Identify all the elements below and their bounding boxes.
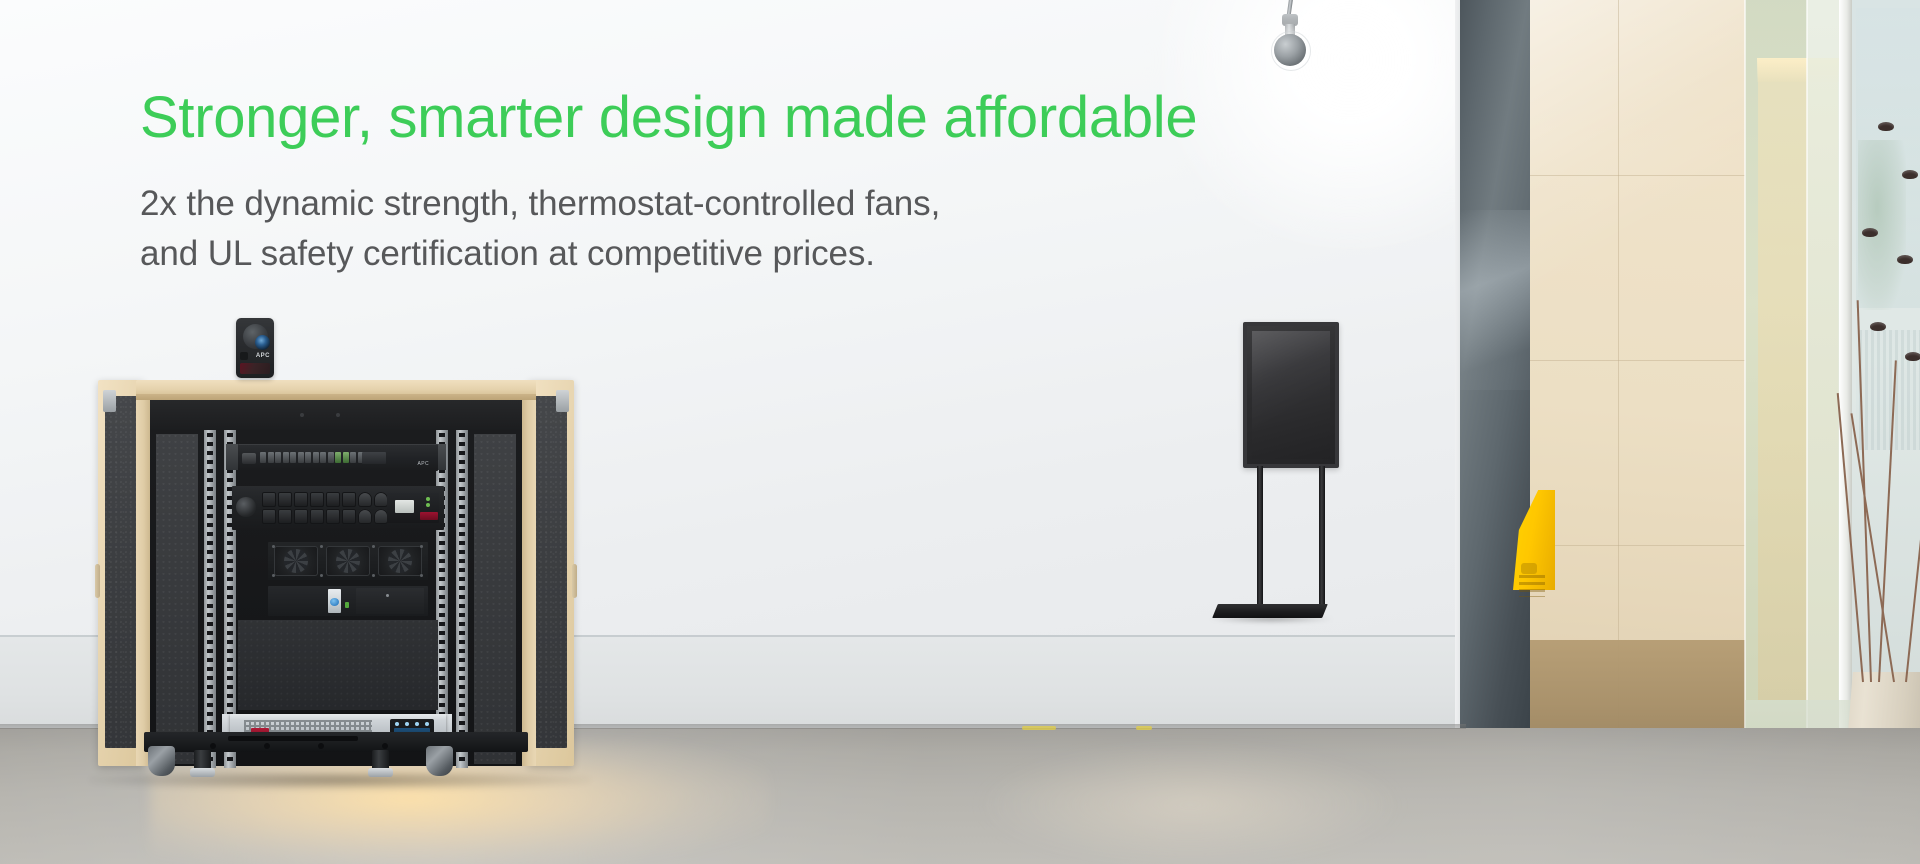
camera-lens	[255, 335, 270, 350]
rack-base-hole	[318, 743, 324, 749]
ups-button[interactable]	[405, 722, 409, 726]
glass-edge	[1806, 0, 1808, 800]
switch-port	[350, 452, 356, 463]
rack-base-hole	[210, 743, 216, 749]
seed-pod	[1905, 352, 1920, 361]
rack-leveling-foot-pad	[190, 768, 215, 777]
rail-perforations	[207, 433, 213, 765]
pdu-outlet	[342, 492, 356, 507]
switch-port-active	[335, 452, 341, 463]
pdu-outlet	[342, 509, 356, 524]
door-handle[interactable]	[95, 564, 100, 598]
shelf-indicator	[386, 594, 389, 597]
rack-base-hole	[382, 743, 388, 749]
rack-wood-side-right	[522, 394, 536, 766]
window-mullion	[1839, 0, 1852, 790]
cooling-fan	[274, 546, 318, 576]
pdu-status-leds	[426, 497, 430, 507]
cooling-fan	[378, 546, 422, 576]
switch-port	[268, 452, 274, 463]
switch-port	[320, 452, 326, 463]
fan-screw	[272, 574, 275, 577]
rack-interior: APC	[150, 400, 522, 766]
fan-screw	[372, 574, 375, 577]
pdu-outlet-grid	[262, 492, 388, 524]
glass-edge	[1744, 0, 1746, 800]
pdu-breaker-knob[interactable]	[236, 497, 256, 517]
rack-base-slot	[228, 736, 358, 741]
switch-port	[283, 452, 289, 463]
rack-blanking-panel	[238, 620, 438, 710]
fan-screw	[320, 574, 323, 577]
glass-panel-2	[1807, 0, 1841, 772]
pdu-outlet	[294, 509, 308, 524]
rack-base-hole	[264, 743, 270, 749]
rack-shelf-module	[268, 586, 428, 616]
fan-screw	[372, 545, 375, 548]
sign-leg	[1257, 466, 1263, 606]
switch-rack-ear	[226, 444, 238, 470]
pdu-outlet	[326, 492, 340, 507]
tan-wall-sheen	[1530, 0, 1745, 300]
seed-pod	[1897, 255, 1913, 264]
pdu-status-led	[426, 503, 430, 507]
pdu-display	[395, 500, 414, 513]
sign-frame	[1243, 322, 1339, 468]
sign-leg	[1319, 466, 1325, 606]
rack-top-dot	[300, 413, 304, 417]
pdu-outlet	[278, 492, 292, 507]
pdu-outlet	[310, 509, 324, 524]
sign-shadow	[1209, 615, 1333, 623]
pdu-outlet-nema	[358, 509, 372, 524]
page-subtitle: 2x the dynamic strength, thermostat-cont…	[140, 179, 1340, 278]
switch-port	[328, 452, 334, 463]
switch-power-inlet	[242, 453, 256, 464]
lamp-head	[1274, 34, 1306, 66]
pdu-status-led	[426, 497, 430, 501]
switch-display	[362, 452, 386, 464]
camera-brand-label: APC	[256, 353, 270, 359]
tan-wall-seam	[1618, 0, 1619, 740]
hero-copy: Stronger, smarter design made affordable…	[140, 88, 1340, 278]
seed-pod	[1902, 170, 1918, 179]
pdu-outlet	[326, 509, 340, 524]
switch-port	[275, 452, 281, 463]
pdu-outlet	[262, 509, 276, 524]
door-clip	[556, 390, 569, 412]
tan-wall-seam	[1530, 360, 1745, 361]
switch-brand-label: APC	[418, 461, 429, 467]
pdu-outlet-nema	[374, 492, 388, 507]
sign-face	[1252, 331, 1330, 459]
caution-sign-handle	[1521, 563, 1537, 574]
ups-button[interactable]	[425, 722, 429, 726]
rack-wood-top-edge	[136, 394, 536, 400]
door-acoustic-pad	[105, 396, 137, 748]
pdu-outlet-nema	[358, 492, 372, 507]
camera-lens-ring	[243, 324, 268, 349]
ups-button[interactable]	[415, 722, 419, 726]
ups-button[interactable]	[395, 722, 399, 726]
seed-pod	[1862, 228, 1878, 237]
pdu-outlet	[294, 492, 308, 507]
interior-acoustic-pad-left	[156, 434, 198, 764]
dark-column	[1460, 0, 1530, 735]
pdu-brand-badge	[420, 512, 438, 520]
pdu-outlet	[310, 492, 324, 507]
hero-banner: Stronger, smarter design made affordable…	[0, 0, 1920, 864]
apc-network-rack: APC	[136, 380, 536, 780]
rack-pdu	[232, 486, 444, 530]
pdu-outlet	[278, 509, 292, 524]
switch-port	[298, 452, 304, 463]
fan-screw	[420, 574, 423, 577]
switch-port-active	[343, 452, 349, 463]
switch-port	[260, 452, 266, 463]
rail-perforations	[459, 433, 465, 765]
rack-caster	[426, 746, 453, 776]
switch-port	[290, 452, 296, 463]
floor-light-reflection	[980, 745, 1400, 864]
seed-pod	[1878, 122, 1894, 131]
rack-fan-tray	[268, 542, 428, 580]
rack-leveling-foot-pad	[368, 768, 393, 777]
fan-screw	[420, 545, 423, 548]
door-acoustic-pad	[535, 396, 567, 748]
door-handle[interactable]	[572, 564, 577, 598]
rack-caster	[148, 746, 175, 776]
pdu-outlet-nema	[374, 509, 388, 524]
switch-port	[313, 452, 319, 463]
shelf-status-led	[345, 602, 349, 608]
fan-screw	[320, 545, 323, 548]
apc-security-camera: APC	[236, 318, 274, 378]
interior-acoustic-pad-right	[474, 434, 516, 764]
rack-mounting-rail	[204, 430, 216, 768]
caution-sign-text	[1519, 575, 1545, 597]
rack-network-switch: APC	[238, 444, 438, 471]
camera-ir-strip	[240, 363, 270, 374]
cooling-fan	[326, 546, 370, 576]
floor-paint-mark	[1136, 726, 1152, 730]
rack-base-plinth	[144, 732, 528, 752]
camera-sensor	[240, 352, 248, 360]
shelf-panel	[356, 588, 424, 614]
tan-wall-seam	[1530, 175, 1745, 176]
floor-paint-mark	[1022, 726, 1056, 730]
network-module-card	[328, 589, 341, 613]
rack-top-dot	[336, 413, 340, 417]
tan-wall-seam	[1530, 545, 1745, 546]
switch-port	[305, 452, 311, 463]
rack-mounting-rail	[456, 430, 468, 768]
pdu-outlet	[262, 492, 276, 507]
rack-wood-side-left	[136, 394, 150, 766]
switch-port-bank	[260, 452, 379, 464]
seed-pod	[1870, 322, 1886, 331]
page-title: Stronger, smarter design made affordable	[140, 88, 1340, 149]
module-indicator-light	[330, 598, 339, 606]
fan-screw	[272, 545, 275, 548]
door-clip	[103, 390, 116, 412]
